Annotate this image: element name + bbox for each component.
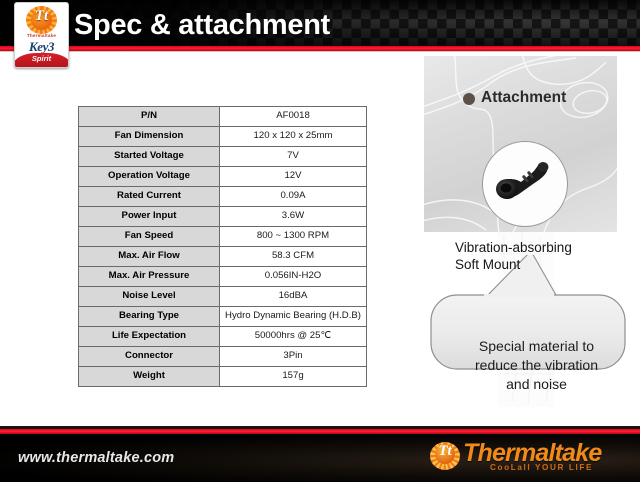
caption-line-1: Vibration-absorbing — [455, 240, 635, 257]
spec-value-cell: AF0018 — [220, 107, 367, 127]
spec-key-cell: Weight — [79, 367, 220, 387]
spec-value-cell: 800 ~ 1300 RPM — [220, 227, 367, 247]
key3-spirit-badge: Tt Thermaltake Key3 Spirit — [14, 2, 69, 68]
spec-key-cell: Connector — [79, 347, 220, 367]
badge-spirit-text: Spirit — [15, 54, 68, 63]
footer-tagline: CooLall YOUR LIFE — [490, 463, 593, 472]
table-row: Rated Current0.09A — [79, 187, 367, 207]
callout-line-3: and noise — [444, 375, 629, 394]
spec-key-cell: P/N — [79, 107, 220, 127]
spec-value-cell: Hydro Dynamic Bearing (H.D.B) — [220, 307, 367, 327]
table-row: Life Expectation50000hrs @ 25℃ — [79, 327, 367, 347]
spec-value-cell: 50000hrs @ 25℃ — [220, 327, 367, 347]
table-row: Weight157g — [79, 367, 367, 387]
callout-line-1: Special material to — [444, 337, 629, 356]
tt-monogram: Tt — [26, 8, 57, 25]
spec-key-cell: Power Input — [79, 207, 220, 227]
spec-value-cell: 7V — [220, 147, 367, 167]
spec-key-cell: Bearing Type — [79, 307, 220, 327]
table-row: Bearing TypeHydro Dynamic Bearing (H.D.B… — [79, 307, 367, 327]
spec-key-cell: Rated Current — [79, 187, 220, 207]
tt-sunburst-icon: Tt — [26, 6, 57, 34]
specification-table: P/NAF0018Fan Dimension120 x 120 x 25mmSt… — [78, 106, 367, 387]
thermaltake-logo: Tt Thermaltake CooLall YOUR LIFE — [430, 440, 634, 478]
table-row: Power Input3.6W — [79, 207, 367, 227]
callout-text: Special material to reduce the vibration… — [444, 337, 629, 394]
badge-brand-text: Thermaltake — [15, 33, 68, 38]
footer-website-url[interactable]: www.thermaltake.com — [18, 450, 174, 466]
specification-table-body: P/NAF0018Fan Dimension120 x 120 x 25mmSt… — [79, 107, 367, 387]
table-row: Operation Voltage12V — [79, 167, 367, 187]
footer-tt-monogram: Tt — [430, 443, 460, 460]
attachment-panel-label: Attachment — [481, 89, 566, 107]
spec-value-cell: 120 x 120 x 25mm — [220, 127, 367, 147]
table-row: Max. Air Flow58.3 CFM — [79, 247, 367, 267]
spec-key-cell: Operation Voltage — [79, 167, 220, 187]
badge-key-word: Key — [29, 39, 48, 54]
table-row: Connector3Pin — [79, 347, 367, 367]
vibration-absorbing-caption: Vibration-absorbing Soft Mount — [455, 240, 635, 274]
spec-value-cell: 0.09A — [220, 187, 367, 207]
caption-line-2: Soft Mount — [455, 257, 635, 274]
attachment-bullet-icon — [463, 93, 475, 105]
spec-key-cell: Fan Speed — [79, 227, 220, 247]
spec-key-cell: Max. Air Pressure — [79, 267, 220, 287]
spec-value-cell: 3.6W — [220, 207, 367, 227]
spec-value-cell: 157g — [220, 367, 367, 387]
spec-value-cell: 16dBA — [220, 287, 367, 307]
table-row: P/NAF0018 — [79, 107, 367, 127]
spec-key-cell: Started Voltage — [79, 147, 220, 167]
spec-value-cell: 58.3 CFM — [220, 247, 367, 267]
spec-key-cell: Life Expectation — [79, 327, 220, 347]
spec-value-cell: 12V — [220, 167, 367, 187]
callout-line-2: reduce the vibration — [444, 356, 629, 375]
spec-key-cell: Fan Dimension — [79, 127, 220, 147]
soft-mount-photo-circle — [482, 141, 568, 227]
table-row: Fan Dimension120 x 120 x 25mm — [79, 127, 367, 147]
header-bar-shadow — [0, 51, 640, 52]
spec-key-cell: Noise Level — [79, 287, 220, 307]
table-row: Fan Speed800 ~ 1300 RPM — [79, 227, 367, 247]
table-row: Started Voltage7V — [79, 147, 367, 167]
spec-value-cell: 0.056IN-H2O — [220, 267, 367, 287]
spec-value-cell: 3Pin — [220, 347, 367, 367]
page-title: Spec & attachment — [74, 9, 330, 42]
badge-key-number: 3 — [48, 39, 54, 54]
table-row: Max. Air Pressure0.056IN-H2O — [79, 267, 367, 287]
soft-mount-pin-icon — [483, 142, 567, 226]
table-row: Noise Level16dBA — [79, 287, 367, 307]
spec-key-cell: Max. Air Flow — [79, 247, 220, 267]
slide-canvas: Spec & attachment Tt Thermaltake Key3 Sp… — [0, 0, 640, 482]
